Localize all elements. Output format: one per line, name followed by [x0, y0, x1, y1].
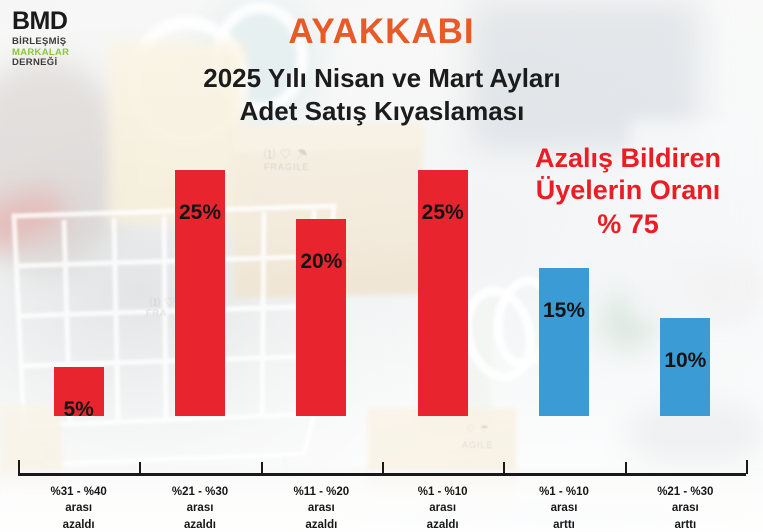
x-axis-tick	[746, 460, 748, 474]
x-axis-label-line: %21 - %30	[137, 484, 263, 500]
x-axis-label-line: azaldı	[16, 517, 142, 532]
x-axis-label-line: %11 - %20	[258, 484, 384, 500]
x-axis-label-line: arttı	[501, 517, 627, 532]
bar-value-label: 5%	[19, 398, 139, 422]
x-axis-tick	[139, 462, 141, 474]
x-axis-label-line: arası	[501, 500, 627, 516]
x-axis-label-line: %31 - %40	[16, 484, 142, 500]
x-axis-tick	[382, 462, 384, 474]
x-axis-label-line: arası	[16, 500, 142, 516]
x-axis-label-line: arttı	[622, 517, 748, 532]
x-axis-label-line: arası	[380, 500, 506, 516]
bar-series: 5%25%20%25%15%10%	[0, 0, 763, 474]
bar-chart: 5%25%20%25%15%10% %31 - %40arasıazaldı%2…	[0, 0, 763, 532]
x-axis-label-line: %21 - %30	[622, 484, 748, 500]
x-axis-label-line: %1 - %10	[380, 484, 506, 500]
x-axis-tick	[503, 462, 505, 474]
bar	[296, 219, 346, 416]
bar-value-label: 25%	[383, 201, 503, 225]
bar-value-label: 10%	[625, 349, 745, 373]
x-axis-tick	[261, 462, 263, 474]
x-axis-tick	[625, 462, 627, 474]
bar-value-label: 25%	[140, 201, 260, 225]
x-axis-label: %21 - %30arasıazaldı	[137, 484, 263, 532]
x-axis-label: %21 - %30arasıarttı	[622, 484, 748, 532]
bar-value-label: 15%	[504, 299, 624, 323]
x-axis-label: %11 - %20arasıazaldı	[258, 484, 384, 532]
x-axis-label-line: azaldı	[137, 517, 263, 532]
x-axis-label-line: arası	[622, 500, 748, 516]
x-axis-label-line: arası	[258, 500, 384, 516]
x-axis-label-line: arası	[137, 500, 263, 516]
x-axis-label: %1 - %10arasıazaldı	[380, 484, 506, 532]
x-axis-label-line: azaldı	[380, 517, 506, 532]
x-axis-label-line: %1 - %10	[501, 484, 627, 500]
bar	[539, 268, 589, 416]
x-axis-label: %31 - %40arasıazaldı	[16, 484, 142, 532]
x-axis-tick	[18, 460, 20, 474]
infographic-slide: ⑴ ♡ ☂ FRAGILE ⑴ ♡ FRA ♡ ☂ AGILE BMD BİRL…	[0, 0, 763, 532]
bar-value-label: 20%	[261, 250, 381, 274]
x-axis-label-line: azaldı	[258, 517, 384, 532]
x-axis-label: %1 - %10arasıarttı	[501, 484, 627, 532]
